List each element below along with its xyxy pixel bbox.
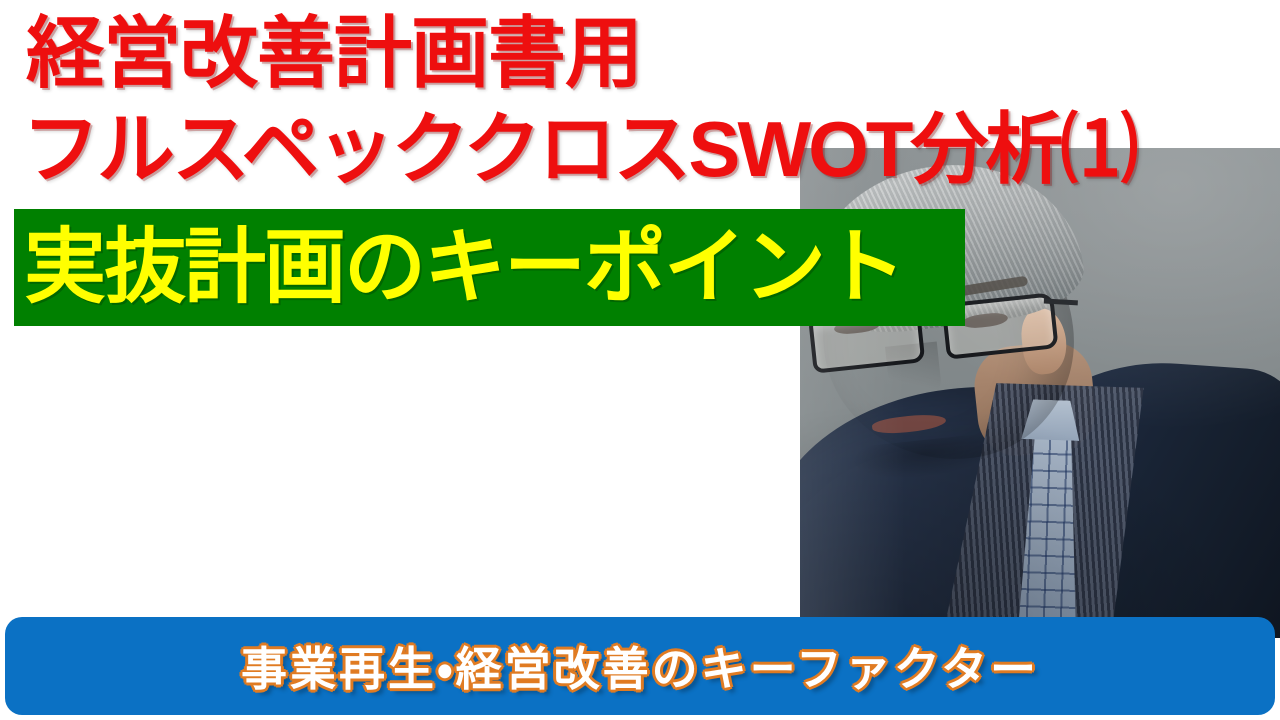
headline-line-2: フルスペッククロスSWOT分析⑴ (22, 110, 1262, 190)
headline-block: 経営改善計画書用 フルスペッククロスSWOT分析⑴ (22, 6, 1262, 189)
slide-canvas: 経営改善計画書用 フルスペッククロスSWOT分析⑴ 実抜計画のキーポイント 事業… (0, 0, 1280, 720)
footer-bar-text: 事業再生・経営改善のキーファクター (241, 633, 1039, 699)
green-highlight-banner: 実抜計画のキーポイント (14, 209, 965, 326)
green-banner-text: 実抜計画のキーポイント (24, 227, 904, 309)
footer-bar: 事業再生・経営改善のキーファクター (5, 617, 1275, 715)
headline-line-1: 経営改善計画書用 (26, 14, 1262, 94)
